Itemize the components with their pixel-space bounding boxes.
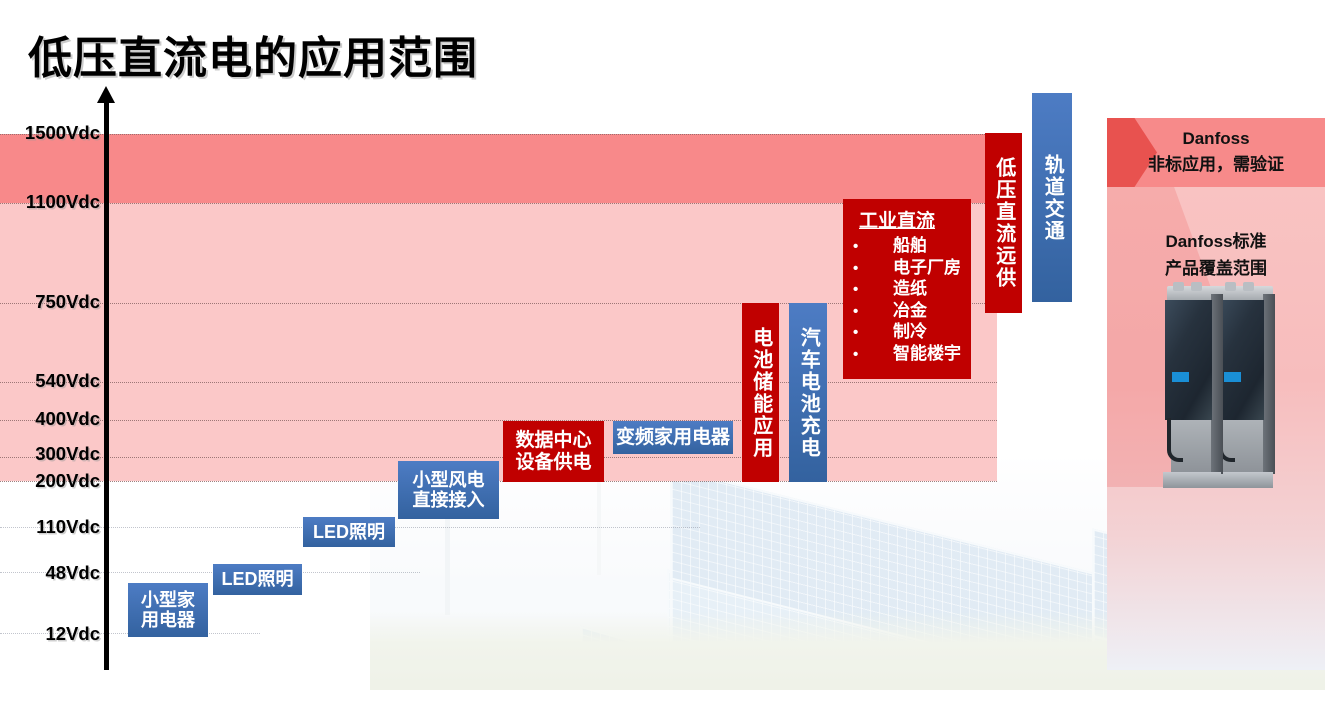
y-tick-300: 300Vdc	[35, 443, 100, 465]
y-axis-tick-labels: 1500Vdc 1100Vdc 750Vdc 540Vdc 400Vdc 300…	[0, 0, 100, 707]
industrial-dc-heading: 工业直流	[859, 206, 961, 233]
drive-face	[1165, 300, 1212, 420]
bullet-icon: •	[853, 323, 879, 342]
drive-cable-icon	[1167, 418, 1183, 462]
standard-line1: Danfoss标准	[1107, 228, 1325, 255]
y-tick-540: 540Vdc	[35, 370, 100, 392]
list-item: • 电子厂房	[853, 257, 961, 279]
industrial-dc-item-label: 电子厂房	[879, 257, 961, 279]
app-box-led-lighting-low[interactable]: LED照明	[213, 564, 302, 595]
y-tick-110: 110Vdc	[36, 516, 100, 538]
app-box-small-wind-direct[interactable]: 小型风电 直接接入	[398, 461, 499, 519]
danfoss-right-panel: Danfoss 非标应用，需验证 Danfoss标准 产品覆盖范围	[1107, 118, 1325, 670]
standard-label: Danfoss标准 产品覆盖范围	[1107, 228, 1325, 282]
gridline-540	[0, 382, 997, 383]
bullet-icon: •	[853, 237, 879, 256]
slide-canvas: 低压直流电的应用范围 Danfoss 非标应用，需验证 Danfos	[0, 0, 1325, 707]
gridline-400	[0, 420, 997, 421]
list-item: • 船舶	[853, 235, 961, 257]
industrial-dc-item-label: 船舶	[879, 235, 961, 257]
app-box-small-home-appliance[interactable]: 小型家 用电器	[128, 583, 208, 637]
drive-side	[1263, 294, 1275, 474]
drive-terminal-icon	[1191, 282, 1202, 291]
drive-side	[1211, 294, 1223, 474]
industrial-dc-item-label: 制冷	[879, 321, 961, 343]
y-tick-750: 750Vdc	[35, 291, 100, 313]
list-item: • 冶金	[853, 300, 961, 322]
band-nonstandard-1100-1500	[0, 134, 997, 203]
nonstandard-line2: 非标应用，需验证	[1107, 152, 1325, 178]
drive-unit	[1217, 286, 1275, 501]
y-tick-1500: 1500Vdc	[25, 122, 100, 144]
standard-line2: 产品覆盖范围	[1107, 255, 1325, 282]
app-box-data-center-power[interactable]: 数据中心 设备供电	[503, 421, 604, 482]
app-box-battery-energy-storage[interactable]: 电池储能应用	[742, 303, 779, 482]
y-tick-200: 200Vdc	[35, 470, 100, 492]
danfoss-drive-product-image	[1165, 286, 1305, 501]
drive-terminal-icon	[1243, 282, 1254, 291]
app-box-led-lighting-high[interactable]: LED照明	[303, 517, 395, 547]
drive-foot	[1215, 472, 1273, 488]
y-axis-line	[104, 100, 109, 670]
app-box-ev-battery-charging[interactable]: 汽车电池充电	[789, 303, 827, 482]
list-item: • 智能楼宇	[853, 343, 961, 365]
gridline-300	[0, 457, 997, 458]
y-tick-400: 400Vdc	[35, 408, 100, 430]
danfoss-logo-icon	[1224, 372, 1241, 382]
drive-unit	[1165, 286, 1223, 501]
bullet-icon: •	[853, 280, 879, 299]
app-box-lvdc-remote-supply[interactable]: 低压直流远供	[985, 133, 1022, 313]
y-tick-1100: 1100Vdc	[26, 191, 100, 213]
bullet-icon: •	[853, 259, 879, 278]
drive-foot	[1163, 472, 1221, 488]
bullet-icon: •	[853, 302, 879, 321]
y-tick-48: 48Vdc	[45, 562, 100, 584]
app-box-industrial-dc[interactable]: 工业直流 • 船舶 • 电子厂房 • 造纸 • 冶金 • 制冷	[843, 199, 971, 379]
industrial-dc-item-label: 智能楼宇	[879, 343, 961, 365]
app-box-vfd-home-appliance[interactable]: 变频家用电器	[613, 421, 733, 454]
list-item: • 制冷	[853, 321, 961, 343]
industrial-dc-item-label: 造纸	[879, 278, 961, 300]
bullet-icon: •	[853, 345, 879, 364]
list-item: • 造纸	[853, 278, 961, 300]
industrial-dc-list: • 船舶 • 电子厂房 • 造纸 • 冶金 • 制冷 • 智能楼宇	[853, 235, 961, 364]
gridline-1500	[0, 134, 997, 135]
drive-terminal-icon	[1173, 282, 1184, 291]
nonstandard-label: Danfoss 非标应用，需验证	[1107, 126, 1325, 178]
y-tick-12: 12Vdc	[45, 623, 100, 645]
industrial-dc-item-label: 冶金	[879, 300, 961, 322]
danfoss-logo-icon	[1172, 372, 1189, 382]
drive-terminal-icon	[1225, 282, 1236, 291]
nonstandard-line1: Danfoss	[1107, 126, 1325, 152]
app-box-rail-transit[interactable]: 轨道交通	[1032, 93, 1072, 302]
drive-face	[1217, 300, 1264, 420]
